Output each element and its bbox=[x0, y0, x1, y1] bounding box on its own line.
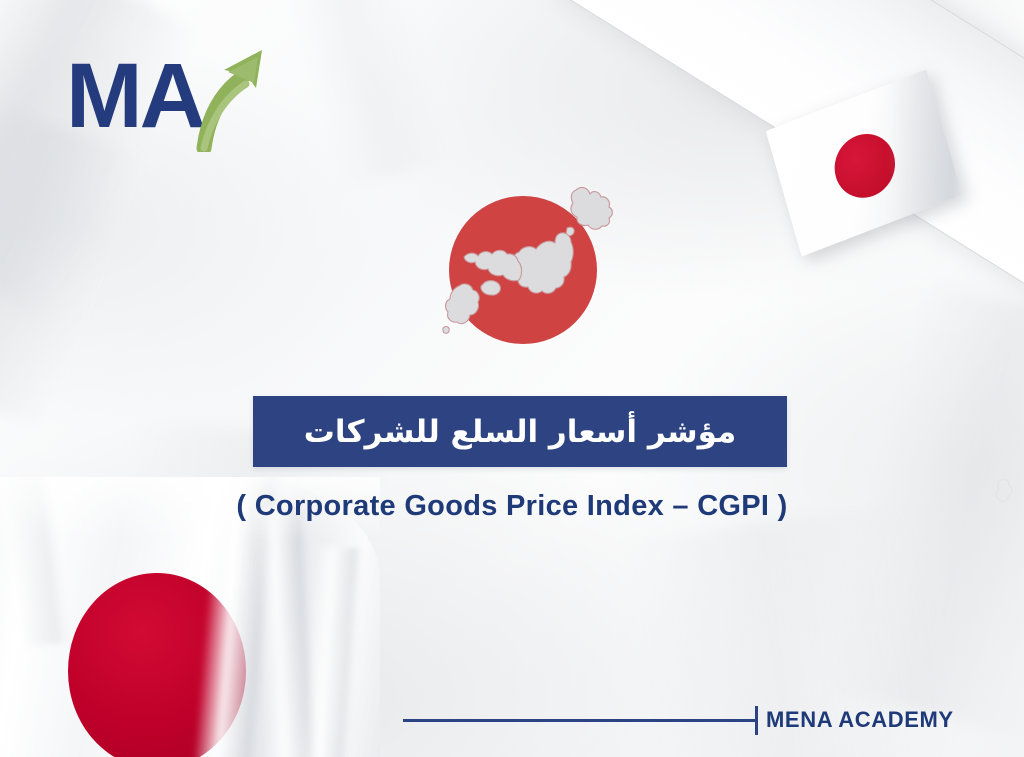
logo-text: MA bbox=[66, 46, 203, 146]
page-title-arabic: مؤشر أسعار السلع للشركات bbox=[304, 414, 736, 450]
mena-academy-logo[interactable]: MA bbox=[66, 46, 266, 152]
footer: MENA ACADEMY bbox=[403, 703, 963, 743]
page-subtitle-english: ( Corporate Goods Price Index – CGPI ) bbox=[0, 490, 1024, 523]
slide-canvas: MA bbox=[0, 0, 1024, 757]
footer-brand: MENA ACADEMY bbox=[766, 706, 954, 734]
japan-map-icon bbox=[435, 176, 625, 366]
footer-rule bbox=[403, 719, 755, 722]
title-banner: مؤشر أسعار السلع للشركات bbox=[253, 396, 787, 467]
growth-arrow-icon bbox=[184, 44, 276, 152]
japan-flag-map-emblem bbox=[435, 176, 625, 366]
footer-tick bbox=[755, 706, 758, 735]
